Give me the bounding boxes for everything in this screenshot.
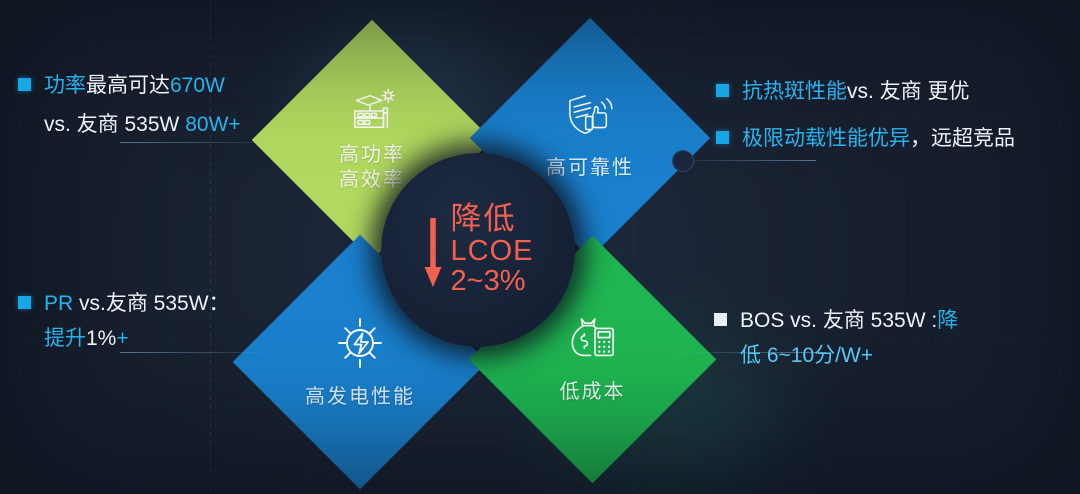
callout-tr-r1-p1: 抗热斑性能 — [742, 80, 847, 103]
solar-panel-factory-icon — [347, 87, 397, 133]
callout-tr-r1-p2: vs. 友商 更优 — [847, 80, 970, 103]
callout-bottom-left[interactable]: PR vs.友商 535W： 提升1%+ — [18, 288, 230, 355]
down-arrow-icon — [423, 211, 443, 289]
connector-top-right — [676, 160, 816, 161]
callout-tr-r2-p2: ，远超竞品 — [910, 127, 1015, 150]
center-line-2: LCOE — [451, 236, 534, 267]
callout-br-l1-p2: 降 — [937, 309, 958, 332]
callout-top-right[interactable]: 抗热斑性能vs. 友商 更优 极限动载性能优异，远超竞品 — [716, 76, 1015, 155]
callout-bl-l2-p1: 提升 — [44, 327, 86, 350]
connector-top-left — [120, 142, 270, 143]
callout-bl-l2-p2: 1% — [86, 327, 116, 350]
callout-bl-l2-p3: + — [116, 327, 128, 350]
cyan-square-bullet — [716, 84, 729, 97]
shield-thumbs-up-icon — [564, 93, 616, 141]
center-line-3: 2~3% — [451, 266, 526, 297]
white-square-bullet — [714, 313, 727, 326]
quadrant-high-power-label-1: 高功率 — [339, 143, 405, 168]
center-line-1: 降低 — [451, 203, 517, 236]
callout-tl-l1-p1: 功率 — [44, 74, 86, 97]
quadrant-high-power-label-2: 高效率 — [339, 168, 405, 193]
cyan-square-bullet — [18, 296, 31, 309]
quadrant-low-cost-label: 低成本 — [560, 375, 626, 404]
callout-br-l1-p1: BOS vs. 友商 535W : — [740, 309, 937, 332]
callout-tl-l1-p2: 最高可达 — [86, 74, 170, 97]
center-lcoe-badge[interactable]: 降低 LCOE 2~3% — [381, 153, 575, 347]
callout-tl-l1-p3: 670W — [170, 74, 225, 97]
infographic-canvas: 高功率 高效率 高可靠性 — [0, 0, 1080, 494]
cyan-square-bullet — [18, 78, 31, 91]
cyan-square-bullet — [716, 131, 729, 144]
connector-node-top-right — [672, 150, 694, 172]
callout-tr-r2-p1: 极限动载性能优异 — [742, 127, 910, 150]
sun-bolt-icon — [332, 316, 388, 370]
callout-bl-l1-p1: PR — [44, 292, 79, 315]
callout-bottom-right[interactable]: BOS vs. 友商 535W :降 低 6~10分/W+ — [714, 305, 958, 372]
quadrant-high-reliability-label: 高可靠性 — [546, 151, 634, 180]
callout-top-left[interactable]: 功率最高可达670W vs. 友商 535W 80W+ — [18, 70, 241, 141]
quadrant-high-generation-label: 高发电性能 — [305, 380, 415, 409]
callout-tl-l2-p2: 80W+ — [179, 113, 240, 136]
callout-bl-l1-p2: vs.友商 535W： — [79, 292, 230, 315]
callout-tl-l2-p1: vs. 友商 535W — [44, 113, 179, 136]
money-bag-calculator-icon — [566, 315, 620, 365]
callout-br-l2-p1: 低 6~10分/W+ — [740, 344, 873, 367]
